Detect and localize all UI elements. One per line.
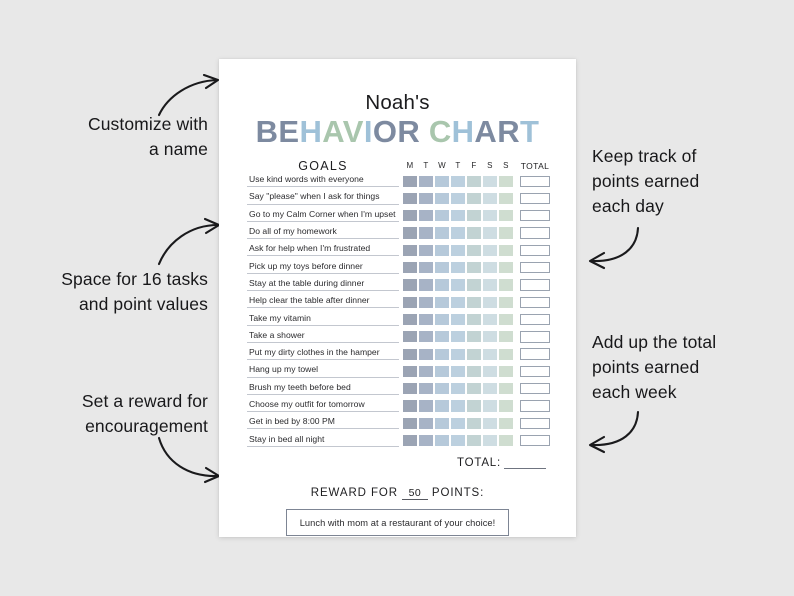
day-checkbox-m-2[interactable] — [403, 210, 418, 221]
day-cell[interactable] — [482, 190, 498, 207]
day-cell[interactable] — [466, 380, 482, 397]
title-letter-4: V — [343, 114, 364, 149]
day-cell[interactable] — [450, 380, 466, 397]
day-checkbox-w-8[interactable] — [435, 314, 450, 325]
row-total-input[interactable] — [520, 210, 550, 221]
day-cell[interactable] — [482, 259, 498, 276]
day-cell[interactable] — [466, 328, 482, 345]
day-cell[interactable] — [498, 224, 514, 241]
day-cell[interactable] — [434, 190, 450, 207]
day-checkbox-t-6[interactable] — [419, 279, 434, 290]
day-checkbox-t-14[interactable] — [419, 418, 434, 429]
day-checkbox-f-12[interactable] — [467, 383, 482, 394]
day-checkbox-m-5[interactable] — [403, 262, 418, 273]
day-checkbox-f-11[interactable] — [467, 366, 482, 377]
day-cell[interactable] — [434, 432, 450, 449]
total-cell[interactable] — [517, 346, 553, 363]
day-checkbox-m-12[interactable] — [403, 383, 418, 394]
row-total-input[interactable] — [520, 314, 550, 325]
day-checkbox-w-2[interactable] — [435, 210, 450, 221]
day-cell[interactable] — [402, 397, 418, 414]
day-cell[interactable] — [418, 294, 434, 311]
day-cell[interactable] — [498, 207, 514, 224]
title-letter-3: A — [322, 114, 343, 149]
day-cell[interactable] — [482, 207, 498, 224]
table-row: Take my vitamin — [247, 311, 553, 328]
day-checkbox-t-5[interactable] — [419, 262, 434, 273]
day-checkbox-s-6[interactable] — [499, 279, 514, 290]
day-cell[interactable] — [450, 259, 466, 276]
day-checkbox-s-12[interactable] — [483, 383, 498, 394]
day-cell[interactable] — [434, 328, 450, 345]
day-cell[interactable] — [418, 207, 434, 224]
day-cell[interactable] — [418, 224, 434, 241]
day-checkbox-s-15[interactable] — [499, 435, 514, 446]
day-cell[interactable] — [498, 328, 514, 345]
day-checkbox-s-1[interactable] — [499, 193, 514, 204]
day-checkbox-t-10[interactable] — [419, 349, 434, 360]
day-checkbox-s-0[interactable] — [483, 176, 498, 187]
day-checkbox-w-0[interactable] — [435, 176, 450, 187]
total-cell[interactable] — [517, 397, 553, 414]
day-checkbox-t-2[interactable] — [451, 210, 466, 221]
day-cell[interactable] — [482, 242, 498, 259]
total-cell[interactable] — [517, 311, 553, 328]
day-checkbox-s-7[interactable] — [499, 297, 514, 308]
day-checkbox-m-4[interactable] — [403, 245, 418, 256]
day-cell[interactable] — [482, 294, 498, 311]
day-cell[interactable] — [498, 346, 514, 363]
goal-cell[interactable]: Put my dirty clothes in the hamper — [247, 346, 399, 363]
row-total-input[interactable] — [520, 262, 550, 273]
day-checkbox-w-4[interactable] — [435, 245, 450, 256]
day-checkbox-m-15[interactable] — [403, 435, 418, 446]
day-cell[interactable] — [498, 173, 514, 190]
table-row: Hang up my towel — [247, 363, 553, 380]
day-checkbox-t-11[interactable] — [419, 366, 434, 377]
day-checkbox-s-13[interactable] — [483, 400, 498, 411]
day-checkbox-t-5[interactable] — [451, 262, 466, 273]
day-checkbox-w-13[interactable] — [435, 400, 450, 411]
day-checkbox-m-11[interactable] — [403, 366, 418, 377]
day-cell[interactable] — [434, 242, 450, 259]
day-cell[interactable] — [466, 397, 482, 414]
day-cell[interactable] — [450, 242, 466, 259]
day-checkbox-t-1[interactable] — [419, 193, 434, 204]
day-cell[interactable] — [434, 380, 450, 397]
day-cell[interactable] — [450, 363, 466, 380]
table-row: Choose my outfit for tomorrow — [247, 397, 553, 414]
day-cell[interactable] — [450, 397, 466, 414]
day-checkbox-s-10[interactable] — [483, 349, 498, 360]
day-checkbox-s-8[interactable] — [483, 314, 498, 325]
weekly-total-input[interactable] — [504, 457, 546, 469]
day-cell[interactable] — [466, 294, 482, 311]
day-checkbox-f-1[interactable] — [467, 193, 482, 204]
day-cell[interactable] — [498, 415, 514, 432]
row-total-input[interactable] — [520, 435, 550, 446]
day-cell[interactable] — [498, 311, 514, 328]
goal-cell[interactable]: Go to my Calm Corner when I'm upset — [247, 207, 399, 224]
day-checkbox-t-3[interactable] — [451, 227, 466, 238]
day-checkbox-s-2[interactable] — [499, 210, 514, 221]
day-cell[interactable] — [450, 224, 466, 241]
table-row: Stay at the table during dinner — [247, 276, 553, 293]
goal-cell[interactable]: Take my vitamin — [247, 311, 399, 328]
day-header-sunday: S — [498, 159, 514, 173]
total-cell[interactable] — [517, 242, 553, 259]
day-cell[interactable] — [450, 311, 466, 328]
day-checkbox-t-12[interactable] — [451, 383, 466, 394]
title-letter-8 — [420, 114, 429, 149]
day-cell[interactable] — [402, 432, 418, 449]
day-checkbox-f-9[interactable] — [467, 331, 482, 342]
day-cell[interactable] — [434, 259, 450, 276]
day-cell[interactable] — [402, 346, 418, 363]
day-checkbox-f-6[interactable] — [467, 279, 482, 290]
day-checkbox-f-7[interactable] — [467, 297, 482, 308]
goal-cell[interactable]: Brush my teeth before bed — [247, 380, 399, 397]
row-total-input[interactable] — [520, 366, 550, 377]
day-checkbox-w-11[interactable] — [435, 366, 450, 377]
day-checkbox-m-0[interactable] — [403, 176, 418, 187]
title-letter-6: O — [373, 114, 398, 149]
day-cell[interactable] — [402, 242, 418, 259]
day-cell[interactable] — [418, 328, 434, 345]
title-letter-2: H — [300, 114, 323, 149]
total-cell[interactable] — [517, 363, 553, 380]
day-checkbox-w-3[interactable] — [435, 227, 450, 238]
day-cell[interactable] — [418, 173, 434, 190]
row-total-input[interactable] — [520, 297, 550, 308]
weekly-total-label: TOTAL: — [457, 457, 501, 469]
day-cell[interactable] — [498, 242, 514, 259]
day-cell[interactable] — [402, 259, 418, 276]
annotation-customize-with-a-name: Customize with a name — [28, 112, 208, 162]
day-checkbox-w-9[interactable] — [435, 331, 450, 342]
day-checkbox-w-1[interactable] — [435, 193, 450, 204]
goal-cell[interactable]: Take a shower — [247, 328, 399, 345]
day-cell[interactable] — [466, 207, 482, 224]
day-cell[interactable] — [498, 190, 514, 207]
goal-cell[interactable]: Hang up my towel — [247, 363, 399, 380]
day-checkbox-t-15[interactable] — [419, 435, 434, 446]
day-checkbox-t-4[interactable] — [451, 245, 466, 256]
goal-label: Put my dirty clothes in the hamper — [247, 348, 399, 360]
day-checkbox-t-0[interactable] — [451, 176, 466, 187]
day-cell[interactable] — [418, 363, 434, 380]
row-total-input[interactable] — [520, 400, 550, 411]
day-cell[interactable] — [434, 311, 450, 328]
goal-cell[interactable]: Do all of my homework — [247, 224, 399, 241]
day-checkbox-t-9[interactable] — [451, 331, 466, 342]
day-cell[interactable] — [450, 415, 466, 432]
day-checkbox-t-14[interactable] — [451, 418, 466, 429]
row-total-input[interactable] — [520, 245, 550, 256]
day-cell[interactable] — [466, 259, 482, 276]
day-cell[interactable] — [434, 415, 450, 432]
day-cell[interactable] — [418, 415, 434, 432]
day-checkbox-t-8[interactable] — [419, 314, 434, 325]
day-checkbox-w-10[interactable] — [435, 349, 450, 360]
title-letter-5: I — [364, 114, 373, 149]
day-checkbox-w-14[interactable] — [435, 418, 450, 429]
day-cell[interactable] — [498, 380, 514, 397]
row-total-input[interactable] — [520, 383, 550, 394]
day-cell[interactable] — [402, 415, 418, 432]
day-cell[interactable] — [482, 173, 498, 190]
goal-cell[interactable]: Help clear the table after dinner — [247, 294, 399, 311]
goal-cell[interactable]: Stay at the table during dinner — [247, 276, 399, 293]
day-cell[interactable] — [402, 363, 418, 380]
day-checkbox-s-14[interactable] — [499, 418, 514, 429]
day-checkbox-m-8[interactable] — [403, 314, 418, 325]
day-checkbox-t-15[interactable] — [451, 435, 466, 446]
day-checkbox-t-1[interactable] — [451, 193, 466, 204]
day-cell[interactable] — [482, 432, 498, 449]
total-cell[interactable] — [517, 415, 553, 432]
day-checkbox-s-3[interactable] — [483, 227, 498, 238]
day-checkbox-s-11[interactable] — [499, 366, 514, 377]
day-checkbox-t-13[interactable] — [451, 400, 466, 411]
day-checkbox-f-5[interactable] — [467, 262, 482, 273]
day-cell[interactable] — [418, 242, 434, 259]
day-checkbox-s-6[interactable] — [483, 279, 498, 290]
day-cell[interactable] — [434, 173, 450, 190]
table-header-row: GOALS M T W T F S S TOTAL — [247, 159, 553, 173]
day-cell[interactable] — [418, 397, 434, 414]
day-checkbox-m-7[interactable] — [403, 297, 418, 308]
goal-label: Take my vitamin — [247, 314, 399, 326]
day-checkbox-t-13[interactable] — [419, 400, 434, 411]
day-cell[interactable] — [466, 224, 482, 241]
day-cell[interactable] — [450, 276, 466, 293]
day-cell[interactable] — [402, 276, 418, 293]
day-checkbox-s-11[interactable] — [483, 366, 498, 377]
day-cell[interactable] — [482, 224, 498, 241]
day-checkbox-m-10[interactable] — [403, 349, 418, 360]
total-cell[interactable] — [517, 328, 553, 345]
day-cell[interactable] — [482, 276, 498, 293]
day-cell[interactable] — [482, 397, 498, 414]
day-checkbox-t-3[interactable] — [419, 227, 434, 238]
day-checkbox-s-15[interactable] — [483, 435, 498, 446]
day-checkbox-t-10[interactable] — [451, 349, 466, 360]
reward-text-input[interactable]: Lunch with mom at a restaurant of your c… — [286, 509, 509, 536]
day-cell[interactable] — [482, 311, 498, 328]
goal-label: Ask for help when I'm frustrated — [247, 244, 399, 256]
day-checkbox-s-4[interactable] — [499, 245, 514, 256]
day-checkbox-f-0[interactable] — [467, 176, 482, 187]
day-cell[interactable] — [482, 380, 498, 397]
day-cell[interactable] — [466, 190, 482, 207]
day-checkbox-s-13[interactable] — [499, 400, 514, 411]
day-header-saturday: S — [482, 159, 498, 173]
day-checkbox-s-0[interactable] — [499, 176, 514, 187]
day-checkbox-s-8[interactable] — [499, 314, 514, 325]
day-cell[interactable] — [466, 432, 482, 449]
day-checkbox-t-0[interactable] — [419, 176, 434, 187]
day-cell[interactable] — [402, 173, 418, 190]
day-cell[interactable] — [482, 328, 498, 345]
goal-cell[interactable]: Get in bed by 8:00 PM — [247, 415, 399, 432]
day-cell[interactable] — [418, 276, 434, 293]
day-checkbox-t-12[interactable] — [419, 383, 434, 394]
day-checkbox-m-6[interactable] — [403, 279, 418, 290]
day-cell[interactable] — [482, 363, 498, 380]
day-checkbox-s-2[interactable] — [483, 210, 498, 221]
day-checkbox-w-7[interactable] — [435, 297, 450, 308]
day-checkbox-f-13[interactable] — [467, 400, 482, 411]
day-cell[interactable] — [466, 363, 482, 380]
day-cell[interactable] — [402, 294, 418, 311]
table-row: Put my dirty clothes in the hamper — [247, 346, 553, 363]
day-checkbox-s-1[interactable] — [483, 193, 498, 204]
day-checkbox-s-10[interactable] — [499, 349, 514, 360]
day-cell[interactable] — [418, 311, 434, 328]
title-letter-12: R — [497, 114, 520, 149]
title-letter-13: T — [520, 114, 539, 149]
day-cell[interactable] — [498, 363, 514, 380]
reward-points-input[interactable]: 50 — [402, 487, 428, 500]
day-checkbox-f-8[interactable] — [467, 314, 482, 325]
day-cell[interactable] — [402, 207, 418, 224]
day-cell[interactable] — [482, 346, 498, 363]
total-cell[interactable] — [517, 259, 553, 276]
goal-cell[interactable]: Say "please" when I ask for things — [247, 190, 399, 207]
day-cell[interactable] — [418, 190, 434, 207]
day-checkbox-t-7[interactable] — [451, 297, 466, 308]
day-checkbox-f-4[interactable] — [467, 245, 482, 256]
day-checkbox-w-15[interactable] — [435, 435, 450, 446]
day-cell[interactable] — [402, 190, 418, 207]
day-cell[interactable] — [434, 397, 450, 414]
day-checkbox-w-5[interactable] — [435, 262, 450, 273]
total-cell[interactable] — [517, 207, 553, 224]
goal-cell[interactable]: Pick up my toys before dinner — [247, 259, 399, 276]
row-total-input[interactable] — [520, 279, 550, 290]
annotation-set-a-reward: Set a reward for encouragement — [22, 389, 208, 439]
row-total-input[interactable] — [520, 331, 550, 342]
day-checkbox-s-5[interactable] — [483, 262, 498, 273]
day-cell[interactable] — [498, 294, 514, 311]
day-cell[interactable] — [466, 173, 482, 190]
day-cell[interactable] — [418, 259, 434, 276]
day-cell[interactable] — [450, 173, 466, 190]
day-cell[interactable] — [418, 432, 434, 449]
goal-cell[interactable]: Stay in bed all night — [247, 432, 399, 449]
day-checkbox-f-14[interactable] — [467, 418, 482, 429]
day-checkbox-s-12[interactable] — [499, 383, 514, 394]
total-cell[interactable] — [517, 294, 553, 311]
day-checkbox-s-3[interactable] — [499, 227, 514, 238]
day-cell[interactable] — [434, 276, 450, 293]
day-cell[interactable] — [402, 311, 418, 328]
table-row: Use kind words with everyone — [247, 173, 553, 190]
day-cell[interactable] — [434, 224, 450, 241]
row-total-input[interactable] — [520, 227, 550, 238]
day-checkbox-f-2[interactable] — [467, 210, 482, 221]
day-checkbox-t-8[interactable] — [451, 314, 466, 325]
day-checkbox-m-1[interactable] — [403, 193, 418, 204]
day-checkbox-s-14[interactable] — [483, 418, 498, 429]
day-checkbox-m-13[interactable] — [403, 400, 418, 411]
day-cell[interactable] — [466, 242, 482, 259]
row-total-input[interactable] — [520, 193, 550, 204]
day-cell[interactable] — [450, 294, 466, 311]
total-cell[interactable] — [517, 380, 553, 397]
total-cell[interactable] — [517, 276, 553, 293]
day-cell[interactable] — [434, 294, 450, 311]
day-cell[interactable] — [450, 190, 466, 207]
day-cell[interactable] — [450, 432, 466, 449]
day-cell[interactable] — [450, 346, 466, 363]
day-checkbox-m-3[interactable] — [403, 227, 418, 238]
day-cell[interactable] — [466, 311, 482, 328]
total-cell[interactable] — [517, 224, 553, 241]
day-checkbox-f-15[interactable] — [467, 435, 482, 446]
day-checkbox-s-4[interactable] — [483, 245, 498, 256]
day-checkbox-m-14[interactable] — [403, 418, 418, 429]
day-checkbox-f-3[interactable] — [467, 227, 482, 238]
day-cell[interactable] — [402, 380, 418, 397]
day-checkbox-t-9[interactable] — [419, 331, 434, 342]
day-cell[interactable] — [482, 415, 498, 432]
day-checkbox-t-4[interactable] — [419, 245, 434, 256]
day-checkbox-t-11[interactable] — [451, 366, 466, 377]
day-checkbox-f-10[interactable] — [467, 349, 482, 360]
day-cell[interactable] — [418, 380, 434, 397]
day-cell[interactable] — [434, 363, 450, 380]
row-total-input[interactable] — [520, 348, 550, 359]
day-checkbox-s-9[interactable] — [499, 331, 514, 342]
day-checkbox-s-5[interactable] — [499, 262, 514, 273]
day-cell[interactable] — [402, 224, 418, 241]
day-checkbox-w-12[interactable] — [435, 383, 450, 394]
day-cell[interactable] — [498, 276, 514, 293]
total-cell[interactable] — [517, 432, 553, 449]
day-cell[interactable] — [466, 276, 482, 293]
day-checkbox-s-7[interactable] — [483, 297, 498, 308]
day-checkbox-t-7[interactable] — [419, 297, 434, 308]
goal-cell[interactable]: Choose my outfit for tomorrow — [247, 397, 399, 414]
day-checkbox-t-6[interactable] — [451, 279, 466, 290]
annotation-add-up-total-points: Add up the total points earned each week — [592, 330, 774, 405]
day-cell[interactable] — [498, 397, 514, 414]
goal-cell[interactable]: Use kind words with everyone — [247, 173, 399, 190]
day-cell[interactable] — [450, 328, 466, 345]
table-row: Take a shower — [247, 328, 553, 345]
day-checkbox-m-9[interactable] — [403, 331, 418, 342]
day-cell[interactable] — [466, 346, 482, 363]
goal-cell[interactable]: Ask for help when I'm frustrated — [247, 242, 399, 259]
day-cell[interactable] — [402, 328, 418, 345]
day-cell[interactable] — [498, 432, 514, 449]
total-cell[interactable] — [517, 190, 553, 207]
day-cell[interactable] — [466, 415, 482, 432]
day-checkbox-t-2[interactable] — [419, 210, 434, 221]
day-cell[interactable] — [434, 346, 450, 363]
day-cell[interactable] — [418, 346, 434, 363]
row-total-input[interactable] — [520, 418, 550, 429]
day-cell[interactable] — [450, 207, 466, 224]
day-checkbox-w-6[interactable] — [435, 279, 450, 290]
day-checkbox-s-9[interactable] — [483, 331, 498, 342]
total-cell[interactable] — [517, 173, 553, 190]
day-cell[interactable] — [434, 207, 450, 224]
day-cell[interactable] — [498, 259, 514, 276]
row-total-input[interactable] — [520, 176, 550, 187]
